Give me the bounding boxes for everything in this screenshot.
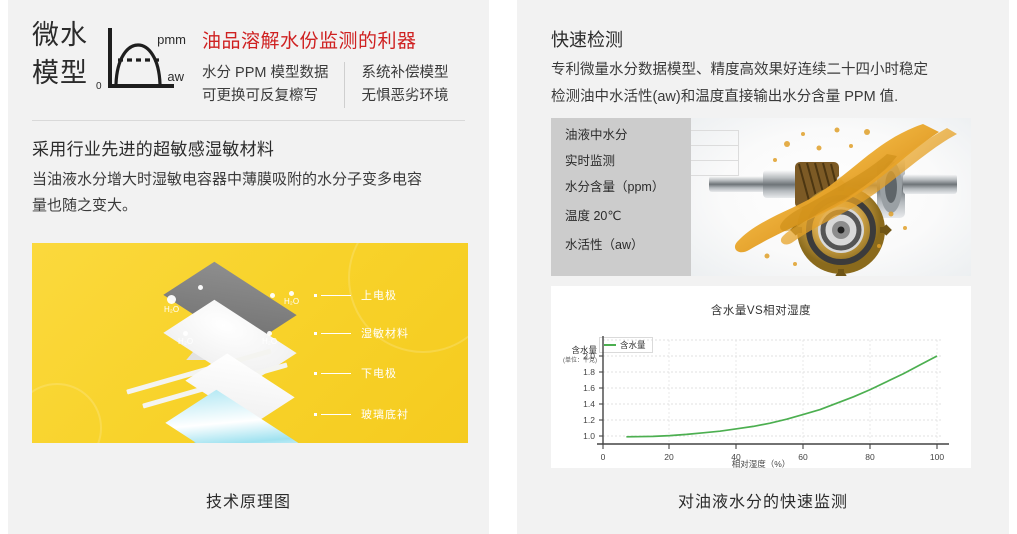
page-root: 微水 模型 0 pmm aw 油品溶解水份监测的利器 水分 PPM 模型数据 bbox=[0, 0, 1017, 534]
icon-zero-label: 0 bbox=[96, 81, 102, 92]
right-panel: 快速检测 专利微量水分数据模型、精度高效果好连续二十四小时稳定 检测油中水活性(… bbox=[517, 0, 1009, 534]
decor-box bbox=[691, 130, 739, 176]
feature-item: 可更换可反复檫写 bbox=[202, 85, 328, 108]
brand-text-block: 油品溶解水份监测的利器 水分 PPM 模型数据 可更换可反复檫写 系统补偿模型 … bbox=[202, 14, 448, 108]
chart-series-line bbox=[626, 356, 937, 437]
molecule-label: H₂O bbox=[164, 305, 179, 314]
list-item: 水分含量（ppm） bbox=[565, 179, 691, 196]
water-molecule: H₂O bbox=[262, 331, 277, 346]
brand-title: 微水 模型 bbox=[32, 14, 88, 90]
panel-gap bbox=[489, 0, 517, 534]
brand-title-line1: 微水 bbox=[32, 14, 88, 52]
moisture-humidity-chart: 含水量VS相对湿度 含水量 含水量 (单位：千克) bbox=[551, 286, 971, 468]
svg-text:1.0: 1.0 bbox=[583, 431, 595, 441]
chart-x-axis-label: 相对湿度（%） bbox=[551, 458, 971, 470]
list-item: 温度 20℃ bbox=[565, 208, 691, 225]
chart-title: 含水量VS相对湿度 bbox=[551, 286, 971, 318]
brand-row: 微水 模型 0 pmm aw 油品溶解水份监测的利器 水分 PPM 模型数据 bbox=[8, 0, 489, 108]
water-molecule: H₂O bbox=[164, 295, 179, 314]
brand-title-line2: 模型 bbox=[32, 52, 88, 90]
right-panel-caption: 对油液水分的快速监测 bbox=[517, 488, 1009, 512]
molecule-label: H₂O bbox=[178, 337, 193, 346]
left-panel: 微水 模型 0 pmm aw 油品溶解水份监测的利器 水分 PPM 模型数据 bbox=[8, 0, 489, 534]
layer-label-text: 玻璃底衬 bbox=[361, 406, 409, 422]
layer-label-glass-substrate: 玻璃底衬 bbox=[314, 406, 409, 422]
section-body: 当油液水分增大时湿敏电容器中薄膜吸附的水分子变多电容量也随之变大。 bbox=[8, 160, 458, 219]
chart-plot-area: 含水量 含水量 (单位：千克) bbox=[551, 318, 971, 468]
molecule-label: H₂O bbox=[262, 337, 277, 346]
svg-text:1.6: 1.6 bbox=[583, 383, 595, 393]
left-panel-caption: 技术原理图 bbox=[8, 488, 489, 512]
svg-text:1.4: 1.4 bbox=[583, 399, 595, 409]
layer-label-sensitive-material: 湿敏材料 bbox=[314, 325, 409, 341]
water-molecule bbox=[270, 293, 275, 299]
feature-grid: 水分 PPM 模型数据 可更换可反复檫写 系统补偿模型 无惧恶劣环境 bbox=[202, 62, 448, 108]
layer-label-text: 上电极 bbox=[361, 287, 397, 303]
exploded-sensor-diagram: 上电极 湿敏材料 H₂O H₂O H₂O bbox=[32, 243, 468, 443]
list-item: 水活性（aw） bbox=[565, 237, 691, 254]
section-title: 采用行业先进的超敏感湿敏材料 bbox=[8, 121, 489, 160]
hero-block: 油液中水分 实时监测 水分含量（ppm） 温度 20℃ 水活性（aw） bbox=[551, 118, 971, 276]
layer-label-text: 下电极 bbox=[361, 365, 397, 381]
feature-item: 系统补偿模型 bbox=[361, 62, 448, 85]
feature-item: 无惧恶劣环境 bbox=[361, 85, 448, 108]
hero-feature-list: 油液中水分 实时监测 水分含量（ppm） 温度 20℃ 水活性（aw） bbox=[551, 118, 691, 276]
layer-glass-substrate bbox=[184, 385, 280, 443]
feature-column-1: 水分 PPM 模型数据 可更换可反复檫写 bbox=[202, 62, 345, 108]
icon-pmm-label: pmm bbox=[157, 32, 186, 47]
oil-splash-gear-shaft-image bbox=[691, 118, 971, 276]
decor-circle bbox=[32, 383, 102, 443]
headline: 油品溶解水份监测的利器 bbox=[202, 26, 448, 53]
layer-label-top-electrode: 上电极 bbox=[314, 287, 397, 303]
list-item: 实时监测 bbox=[565, 153, 691, 170]
layer-label-text: 湿敏材料 bbox=[361, 325, 409, 341]
layer-label-bottom-electrode: 下电极 bbox=[314, 365, 397, 381]
right-panel-subtitle-line1: 专利微量水分数据模型、精度高效果好连续二十四小时稳定 bbox=[517, 52, 1009, 83]
water-molecule: H₂O bbox=[178, 331, 193, 346]
water-molecule bbox=[198, 285, 203, 291]
chart-svg: 2.0 1.8 1.6 1.4 1.2 1.0 0 20 40 60 bbox=[551, 318, 971, 468]
parabola-curve-icon: 0 pmm aw bbox=[96, 24, 188, 98]
icon-aw-label: aw bbox=[167, 69, 184, 84]
right-panel-subtitle-line2: 检测油中水活性(aw)和温度直接输出水分含量 PPM 值. bbox=[517, 83, 1009, 110]
svg-text:2.0: 2.0 bbox=[583, 351, 595, 361]
svg-text:1.8: 1.8 bbox=[583, 367, 595, 377]
feature-column-2: 系统补偿模型 无惧恶劣环境 bbox=[345, 62, 448, 108]
svg-text:1.2: 1.2 bbox=[583, 415, 595, 425]
water-molecule: H₂O bbox=[284, 291, 299, 306]
list-item: 油液中水分 bbox=[565, 127, 691, 144]
right-panel-title: 快速检测 bbox=[517, 0, 1009, 52]
feature-item: 水分 PPM 模型数据 bbox=[202, 62, 328, 85]
molecule-label: H₂O bbox=[284, 297, 299, 306]
